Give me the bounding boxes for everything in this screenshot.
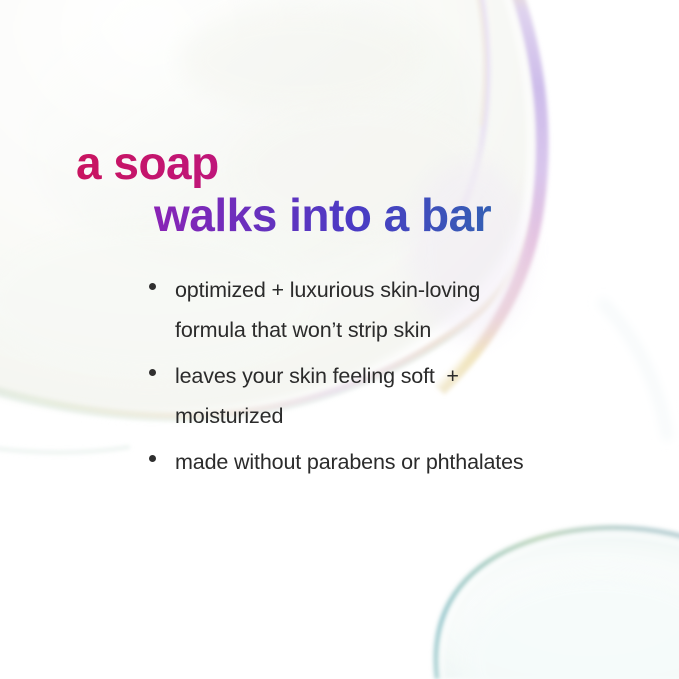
list-item-label: leaves your skin feeling soft + moisturi… — [175, 356, 546, 436]
headline-line-2: walks into a bar — [154, 192, 636, 240]
poster-content: a soap walks into a bar optimized + luxu… — [0, 0, 679, 679]
product-detail-image: a soap walks into a bar optimized + luxu… — [0, 0, 679, 679]
list-item: made without parabens or phthalates — [146, 442, 546, 482]
benefits-list: optimized + luxurious skin-loving formul… — [146, 270, 546, 488]
headline-line-1: a soap — [76, 140, 636, 188]
bullet-dot-icon — [149, 283, 156, 290]
headline-block: a soap walks into a bar — [76, 140, 636, 240]
list-item-label: made without parabens or phthalates — [175, 442, 546, 482]
list-item-label: optimized + luxurious skin-loving formul… — [175, 270, 546, 350]
list-item: leaves your skin feeling soft + moisturi… — [146, 356, 546, 436]
list-item: optimized + luxurious skin-loving formul… — [146, 270, 546, 350]
bullet-dot-icon — [149, 455, 156, 462]
bullet-dot-icon — [149, 369, 156, 376]
